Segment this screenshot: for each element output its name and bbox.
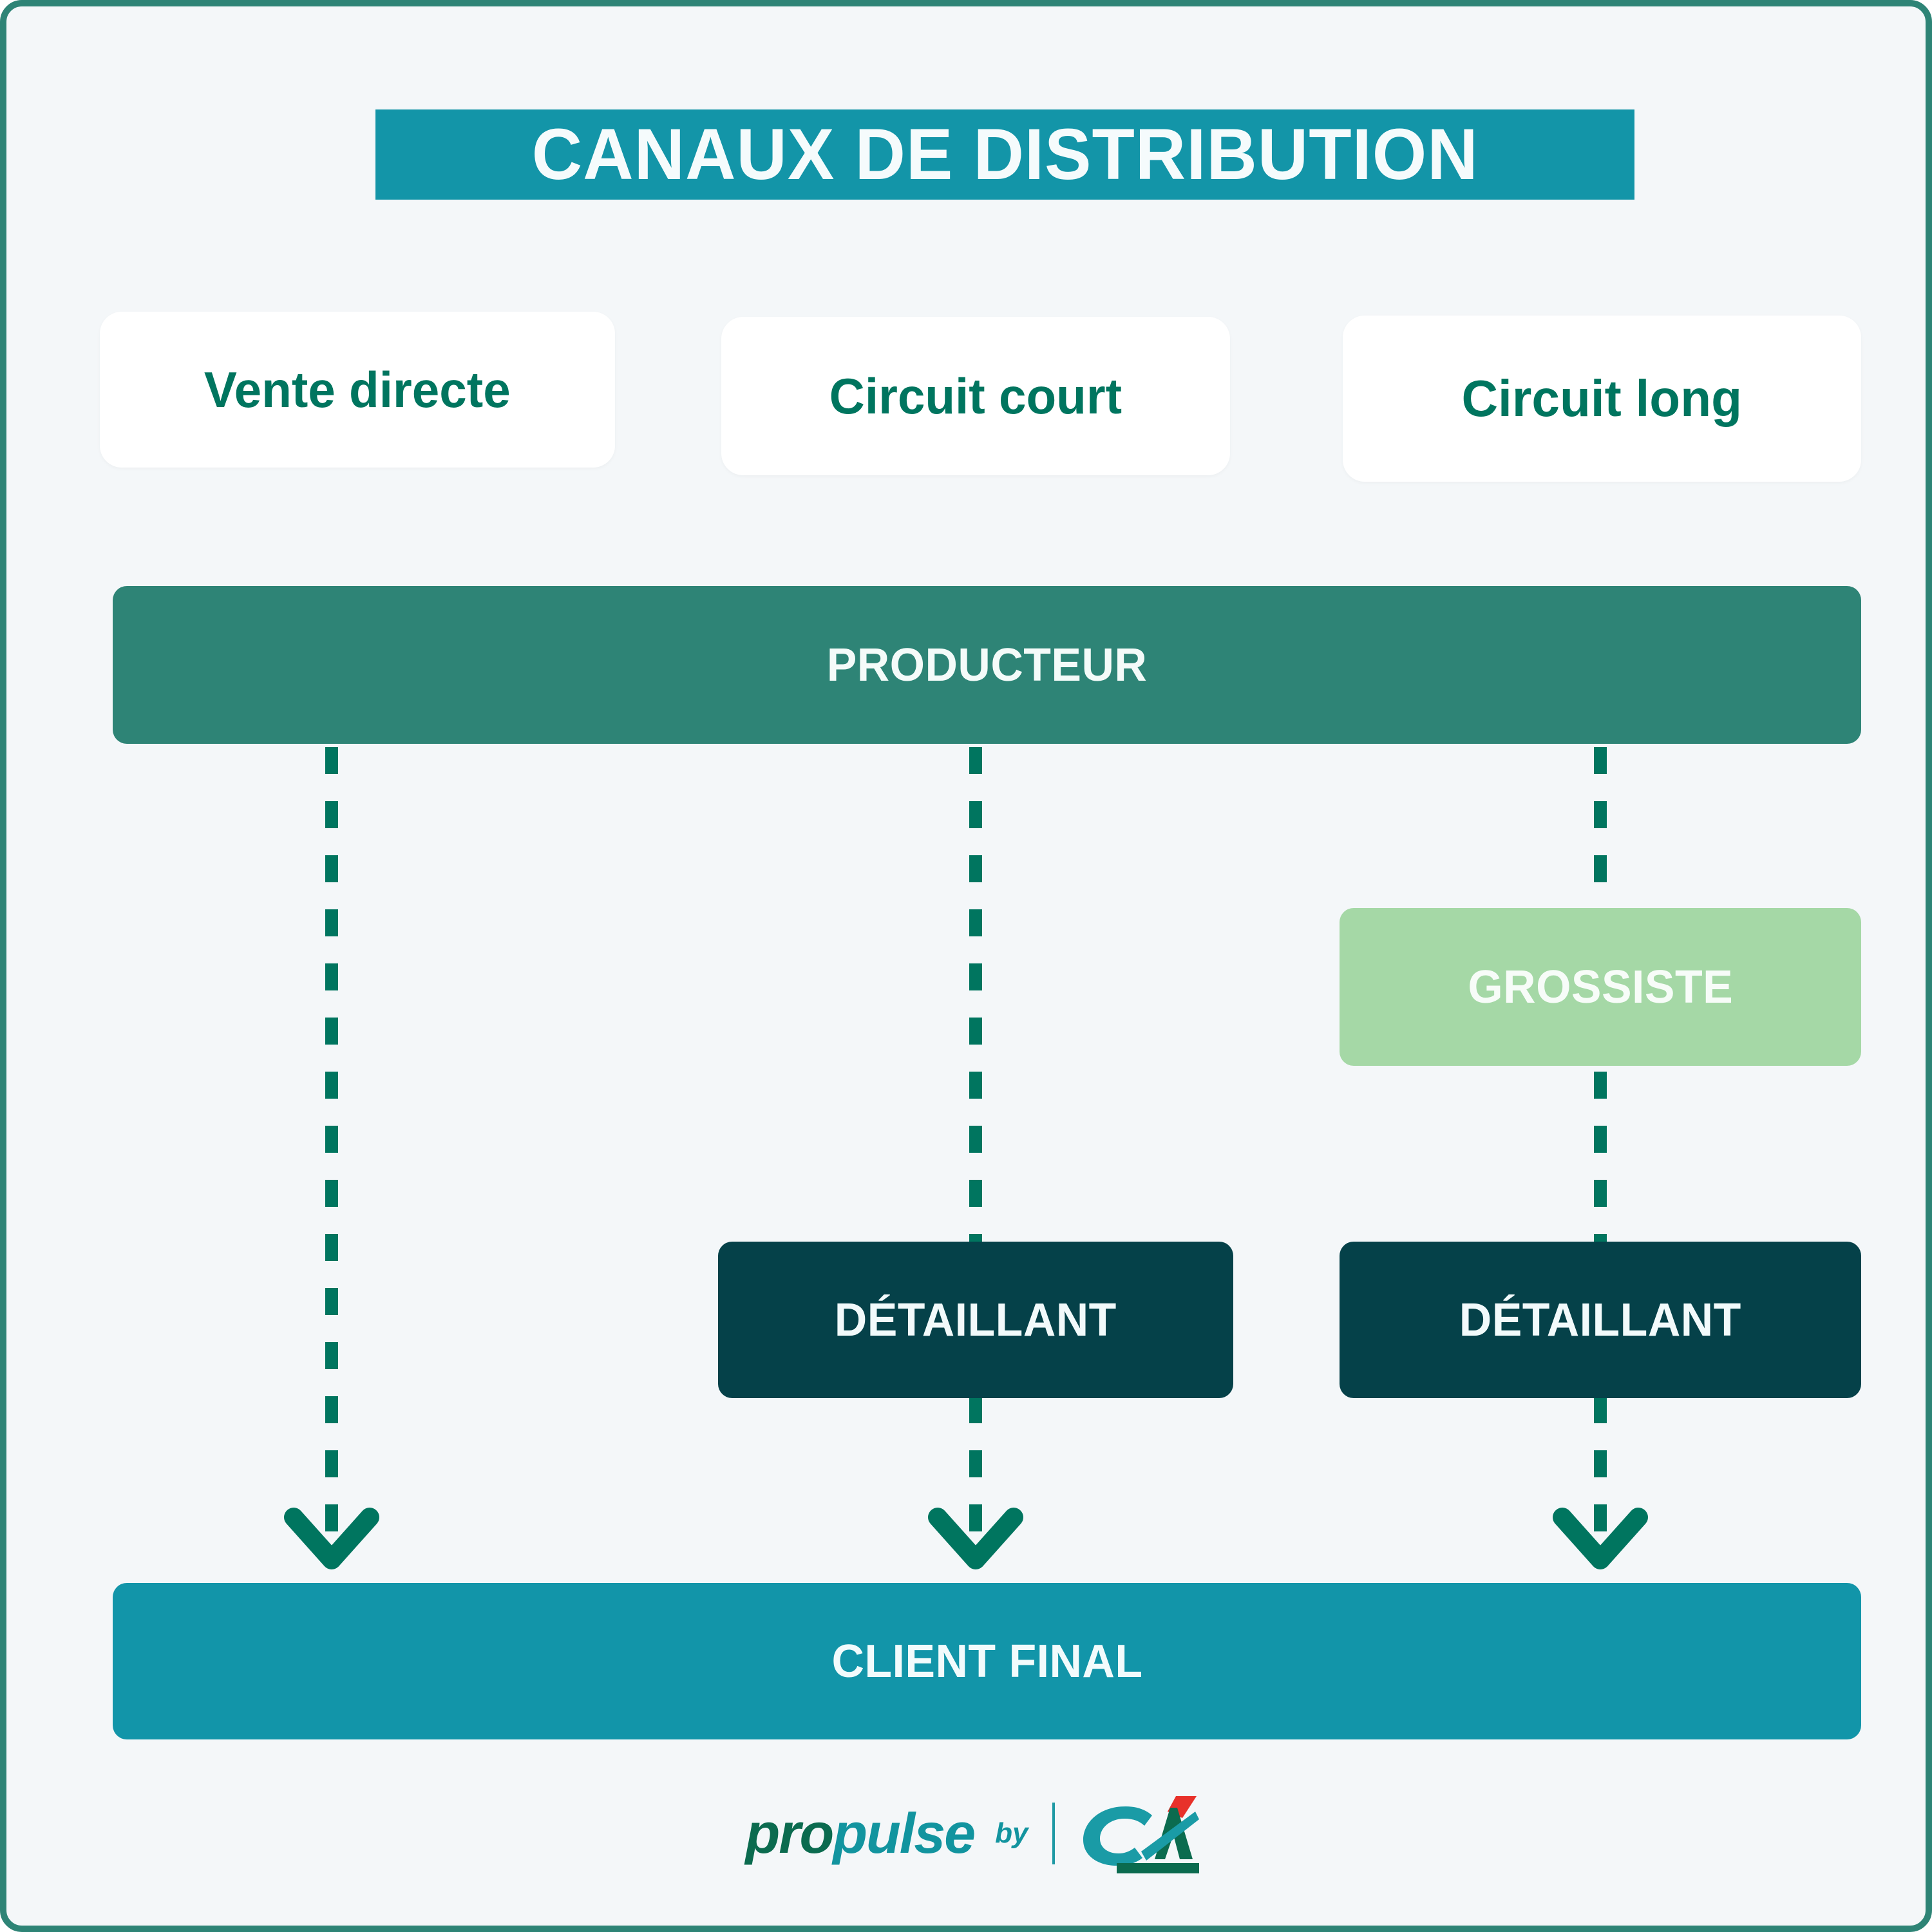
arrow-down-icon xyxy=(927,1507,1024,1578)
infographic-canvas: CANAUX DE DISTRIBUTION Vente directe Cir… xyxy=(0,0,1932,1932)
connector-circuit-long xyxy=(1594,747,1607,1549)
brand-pro: pro xyxy=(746,1801,833,1865)
dashed-line xyxy=(969,747,982,1549)
footer-logo: propulse by xyxy=(6,1785,1932,1882)
channel-label: Circuit long xyxy=(1462,373,1743,424)
flow-box-client-final[interactable]: CLIENT FINAL xyxy=(113,1583,1861,1739)
dashed-line xyxy=(1594,747,1607,1549)
brand-pulse: pulse xyxy=(833,1801,974,1865)
flow-box-detaillant-circuit-long[interactable]: DÉTAILLANT xyxy=(1340,1242,1861,1398)
channel-card-circuit-court[interactable]: Circuit court xyxy=(721,317,1230,475)
flow-box-grossiste[interactable]: GROSSISTE xyxy=(1340,908,1861,1066)
propulse-wordmark: propulse xyxy=(746,1805,975,1862)
connector-circuit-court xyxy=(969,747,982,1549)
dashed-line xyxy=(325,747,338,1549)
flow-box-detaillant-circuit-court[interactable]: DÉTAILLANT xyxy=(718,1242,1233,1398)
flow-box-label: DÉTAILLANT xyxy=(835,1297,1117,1343)
channel-card-vente-directe[interactable]: Vente directe xyxy=(100,312,615,468)
by-label: by xyxy=(995,1819,1028,1848)
arrow-down-icon xyxy=(283,1507,380,1578)
page-title: CANAUX DE DISTRIBUTION xyxy=(532,118,1479,191)
flow-box-label: CLIENT FINAL xyxy=(831,1638,1142,1685)
credit-agricole-logo-icon xyxy=(1079,1792,1199,1875)
channel-label: Vente directe xyxy=(204,365,511,415)
flow-box-label: GROSSISTE xyxy=(1468,964,1733,1010)
channel-label: Circuit court xyxy=(829,371,1122,421)
channel-card-circuit-long[interactable]: Circuit long xyxy=(1343,316,1861,482)
connector-vente-directe xyxy=(325,747,338,1549)
flow-box-label: PRODUCTEUR xyxy=(827,642,1148,688)
flow-box-label: DÉTAILLANT xyxy=(1459,1297,1741,1343)
logo-divider xyxy=(1052,1803,1055,1864)
arrow-down-icon xyxy=(1552,1507,1649,1578)
flow-box-producteur[interactable]: PRODUCTEUR xyxy=(113,586,1861,744)
page-title-banner: CANAUX DE DISTRIBUTION xyxy=(375,109,1634,200)
